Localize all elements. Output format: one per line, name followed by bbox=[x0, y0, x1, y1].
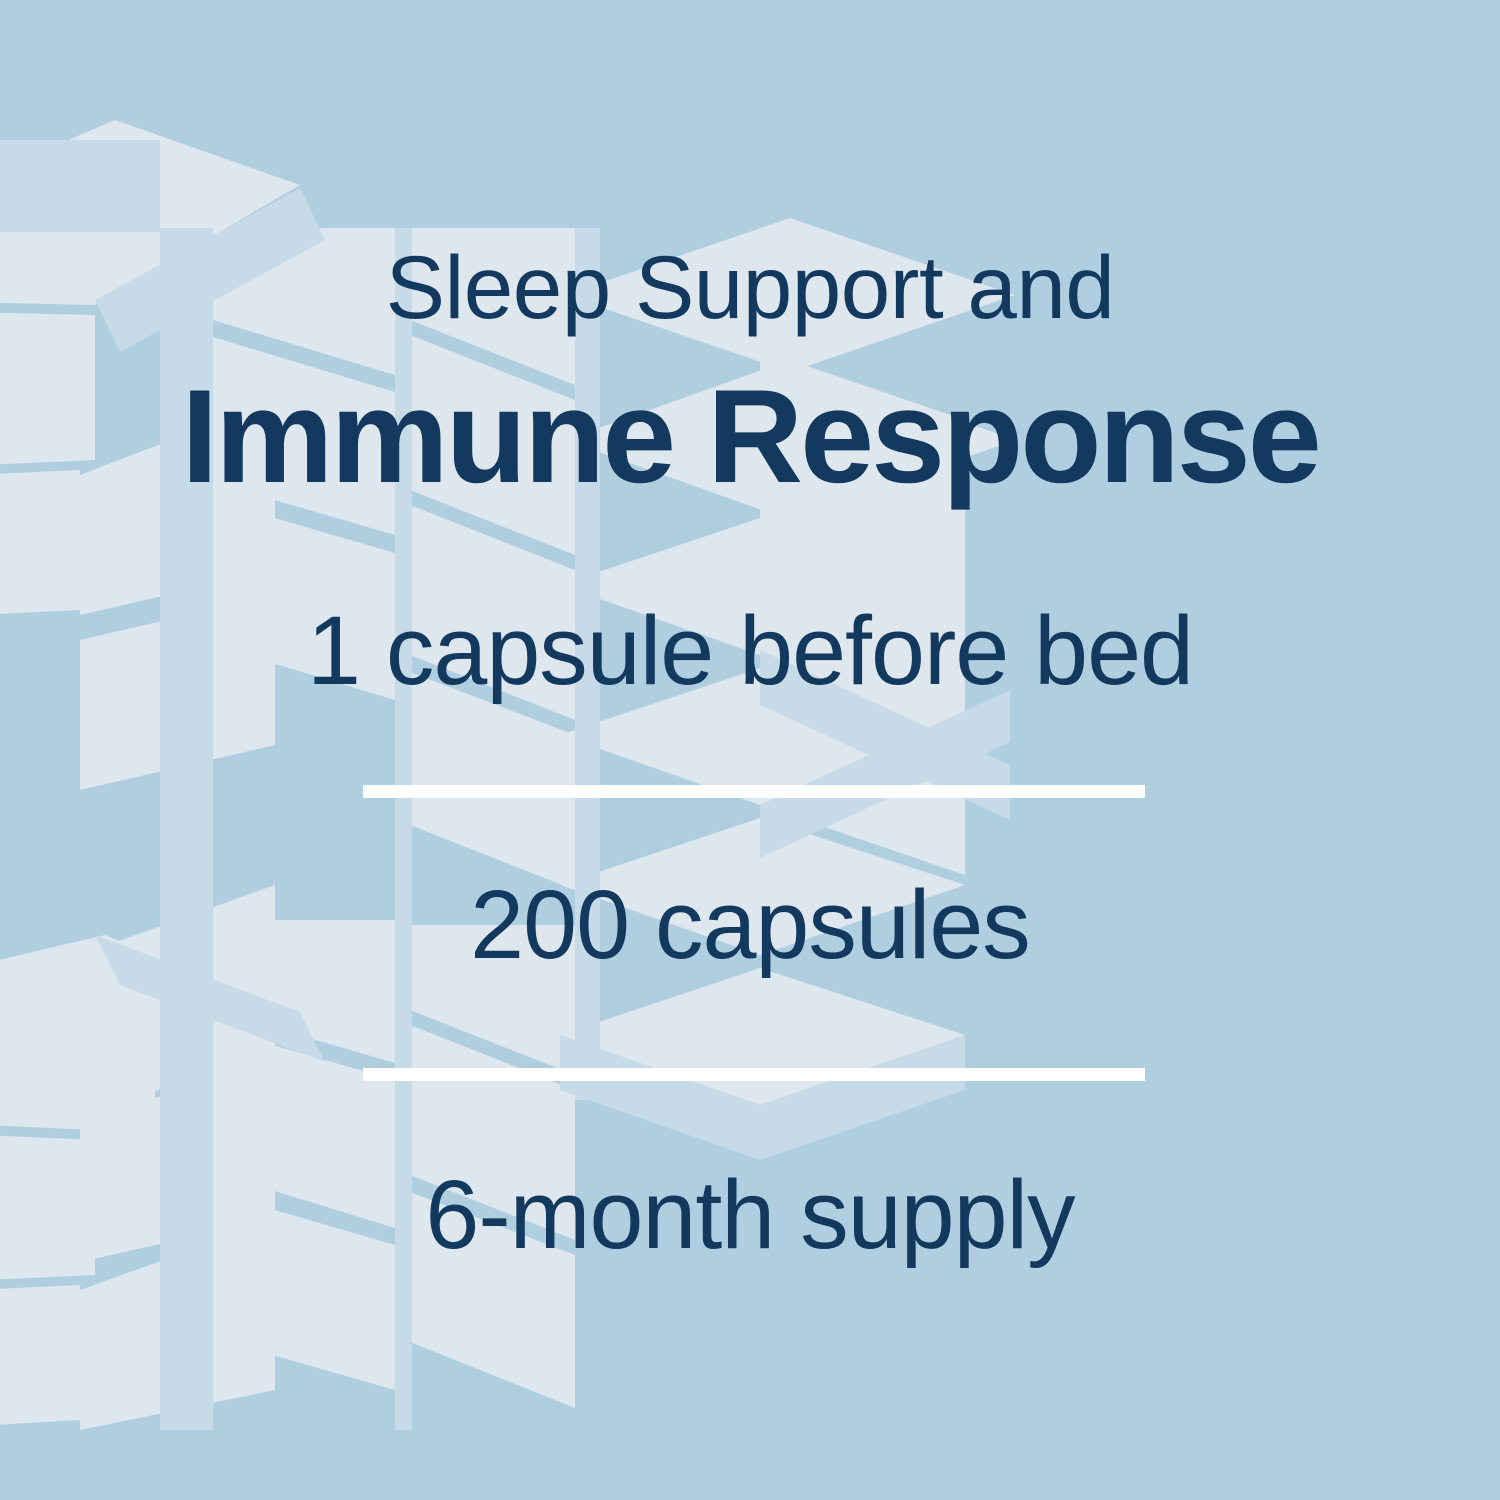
headline-text: Immune Response bbox=[0, 371, 1500, 504]
dosage-text: 1 capsule before bed bbox=[0, 602, 1500, 699]
capsule-count-text: 200 capsules bbox=[0, 876, 1500, 973]
supply-duration-text: 6-month supply bbox=[0, 1166, 1500, 1263]
product-callout-panel: Sleep Support and Immune Response 1 caps… bbox=[0, 0, 1500, 1500]
eyebrow-text: Sleep Support and bbox=[0, 243, 1500, 332]
callout-text-block: Sleep Support and Immune Response 1 caps… bbox=[0, 0, 1500, 1500]
